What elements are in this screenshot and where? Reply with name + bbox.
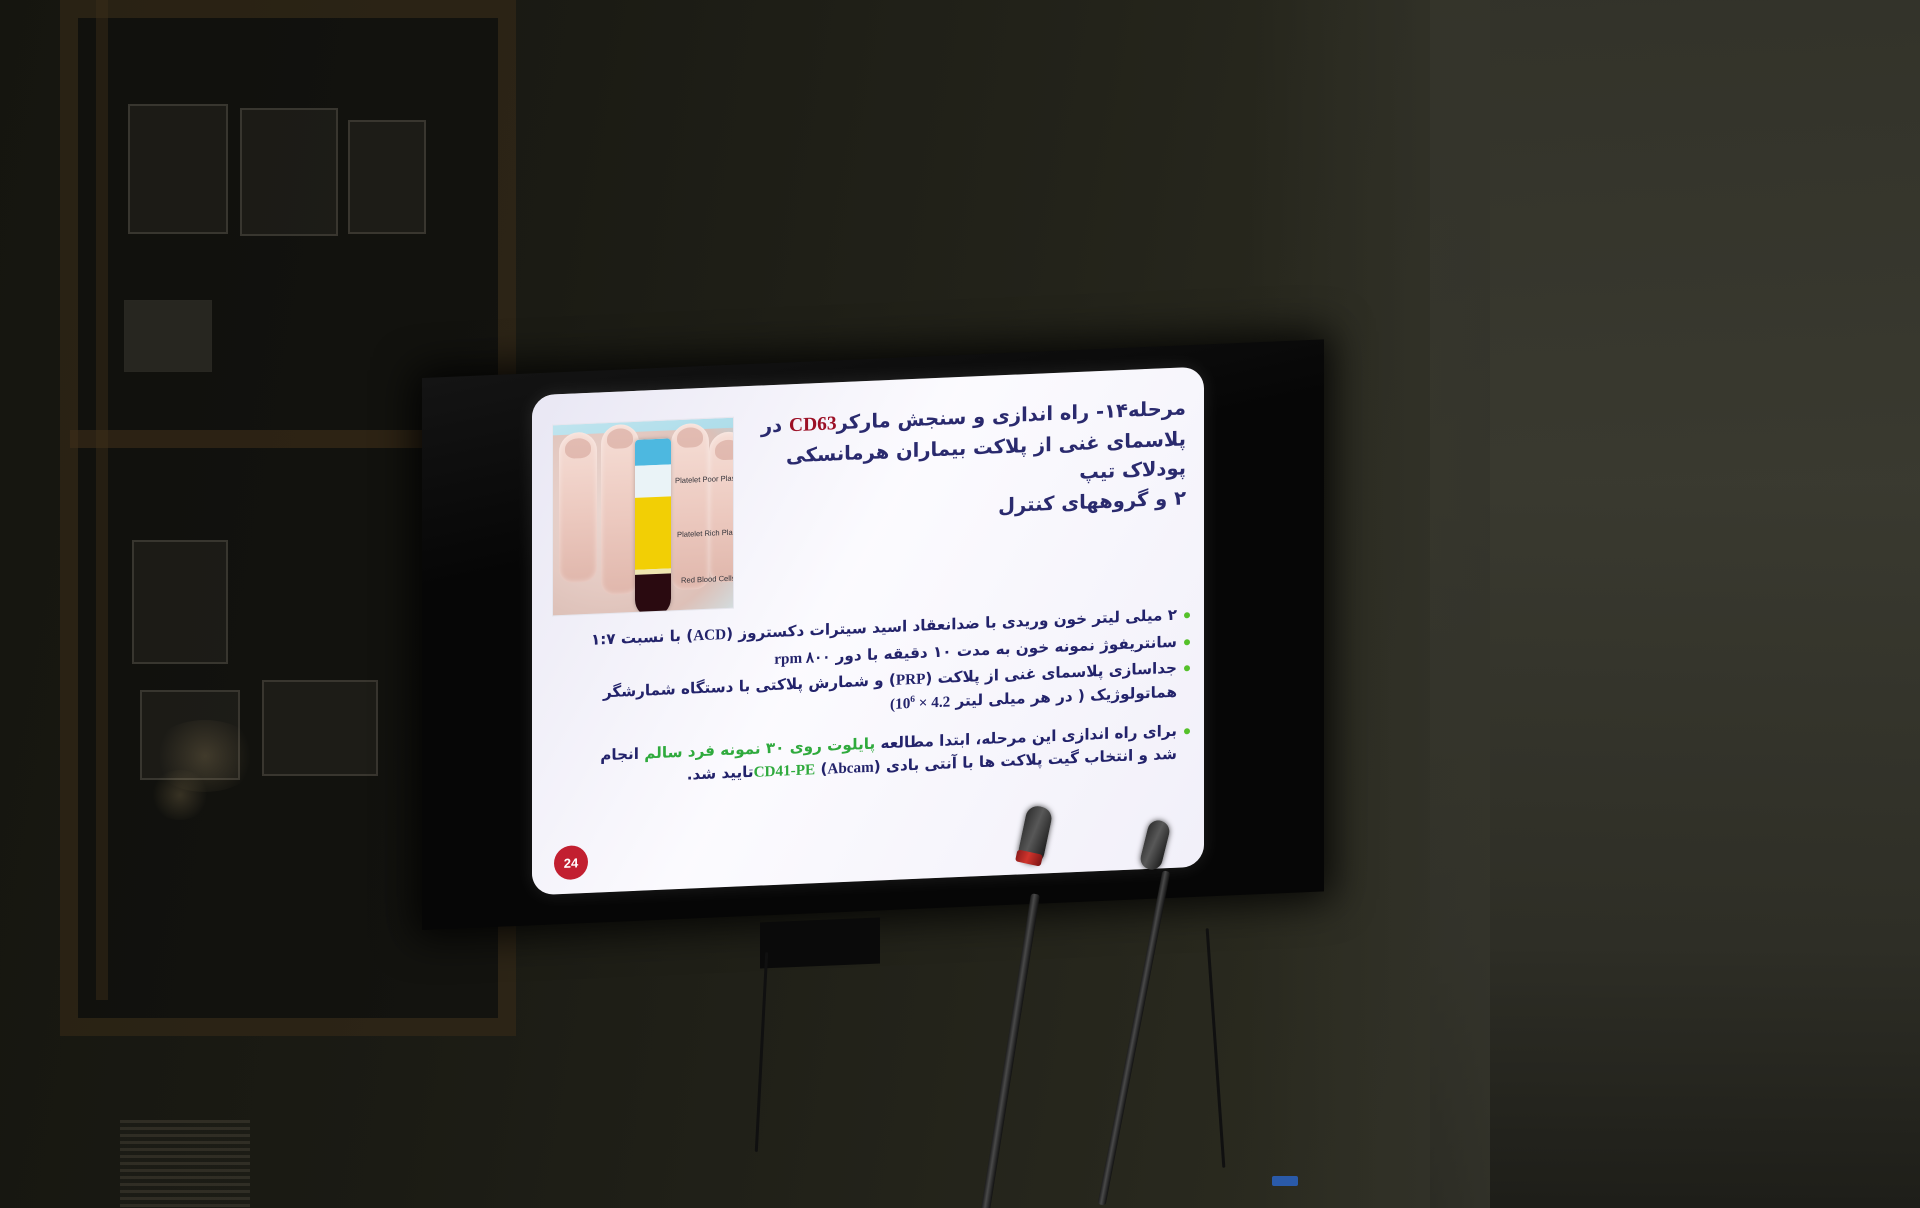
bullet-dot-icon [1184, 728, 1190, 734]
fingertip-3 [677, 427, 703, 448]
bottle-glow [150, 770, 210, 820]
bullet-dot-icon [1184, 612, 1190, 618]
cabinet-mullion-horizontal [70, 430, 470, 448]
bullet-4-en2: Abcam [827, 758, 873, 777]
bullet-dot-icon [1184, 639, 1190, 645]
bullet-dot-icon [1184, 665, 1190, 671]
fingertip-1 [565, 438, 591, 459]
plasma-layer [635, 496, 671, 570]
presentation-slide: مرحله۱۴- راه اندازی و سنجش مارکرCD63 در … [532, 367, 1204, 896]
wall-certificate-1 [128, 104, 228, 234]
television-screen: مرحله۱۴- راه اندازی و سنجش مارکرCD63 در … [422, 339, 1324, 930]
bullet-3-formula: 4.2 × 10 [895, 693, 950, 712]
screenshot-stage: مرحله۱۴- راه اندازی و سنجش مارکرCD63 در … [0, 0, 1920, 1208]
bullet-2-en: ۸۰۰ rpm [774, 648, 830, 667]
cabinet-mullion-vertical [96, 0, 108, 1000]
finger-3 [671, 423, 709, 591]
tv-stand [760, 917, 880, 968]
slide-content: مرحله۱۴- راه اندازی و سنجش مارکرCD63 در … [532, 367, 1204, 896]
right-wall [1430, 0, 1920, 1208]
slide-title-line3: ۲ و گروههای کنترل [998, 486, 1186, 517]
wall-certificate-5 [262, 680, 378, 776]
floor-vent [120, 1120, 250, 1208]
bullet-4-post2: ( [815, 759, 827, 778]
device-status-light [1272, 1176, 1298, 1186]
finger-2 [601, 424, 639, 596]
slide-title-line1-tail: در [761, 414, 782, 438]
slide-page-badge: 24 [554, 845, 588, 880]
wall-certificate-4 [132, 540, 228, 664]
slide-title: مرحله۱۴- راه اندازی و سنجش مارکرCD63 در … [746, 393, 1186, 531]
shelf-paper-1 [124, 300, 212, 372]
bullet-text: برای راه اندازی این مرحله، ابتدا مطالعه … [590, 720, 1177, 791]
fingertip-2 [607, 428, 633, 449]
bullet-item: برای راه اندازی این مرحله، ابتدا مطالعه … [590, 719, 1190, 791]
blood-collection-tube [635, 438, 671, 616]
fingertip-4 [715, 439, 734, 460]
blood-tube-photo: Platelet Poor Plasma Platelet Rich Plasm… [552, 417, 734, 617]
slide-title-marker: CD63 [789, 413, 837, 436]
slide-bullet-list: ۲ میلی لیتر خون وریدی با ضدانعقاد اسید س… [590, 603, 1190, 794]
bullet-3-en: PRP [896, 670, 926, 688]
bullet-1-post: ) با نسبت ۱:۷ [591, 626, 693, 648]
red-blood-cell-layer [635, 573, 671, 616]
bullet-1-en: ACD [693, 626, 726, 644]
tube-clear-layer [635, 464, 671, 498]
wall-certificate-2 [240, 108, 338, 236]
bullet-4-green-en: CD41-PE [754, 761, 816, 781]
finger-1 [559, 432, 597, 584]
bullet-4-green: پایلوت روی ۳۰ نمونه فرد سالم [644, 735, 875, 763]
tube-cap [635, 438, 671, 466]
wall-certificate-3 [348, 120, 426, 234]
finger-4 [709, 431, 734, 583]
slide-title-line2: پلاسمای غنی از پلاکت بیماران هرمانسکی پو… [786, 427, 1186, 484]
